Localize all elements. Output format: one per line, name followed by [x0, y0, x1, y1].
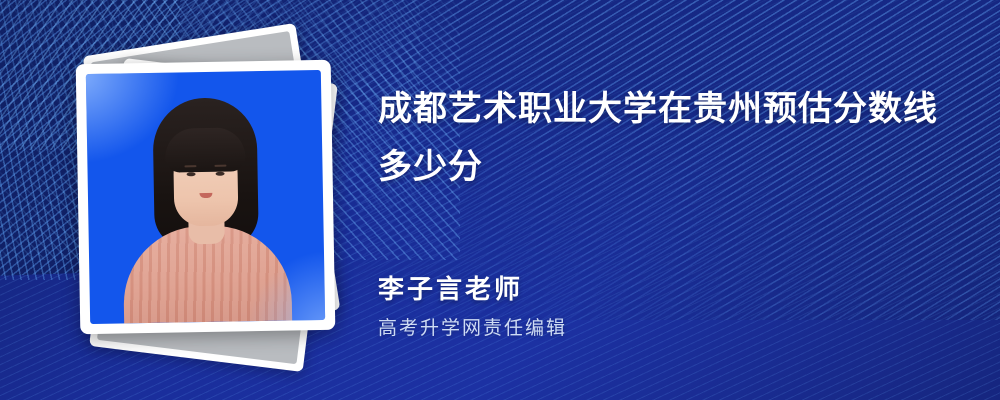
article-banner: 成都艺术职业大学在贵州预估分数线多少分 李子言老师 高考升学网责任编辑 — [0, 0, 1000, 400]
portrait-illustration — [86, 70, 325, 324]
portrait-hair-front — [164, 127, 245, 172]
portrait-eye-right — [215, 172, 224, 176]
article-title: 成都艺术职业大学在贵州预估分数线多少分 — [378, 80, 963, 196]
author-byline: 李子言老师 高考升学网责任编辑 — [378, 272, 798, 341]
photo-card-stack — [60, 30, 360, 370]
portrait-eyebrow-right — [214, 164, 226, 167]
portrait-eyebrow-left — [184, 165, 196, 168]
author-name: 李子言老师 — [378, 272, 798, 308]
banner-content: 成都艺术职业大学在贵州预估分数线多少分 李子言老师 高考升学网责任编辑 — [378, 0, 978, 400]
portrait-eye-left — [186, 172, 195, 176]
author-photo-card — [76, 60, 336, 334]
author-role: 高考升学网责任编辑 — [378, 315, 798, 341]
author-photo — [86, 70, 325, 324]
